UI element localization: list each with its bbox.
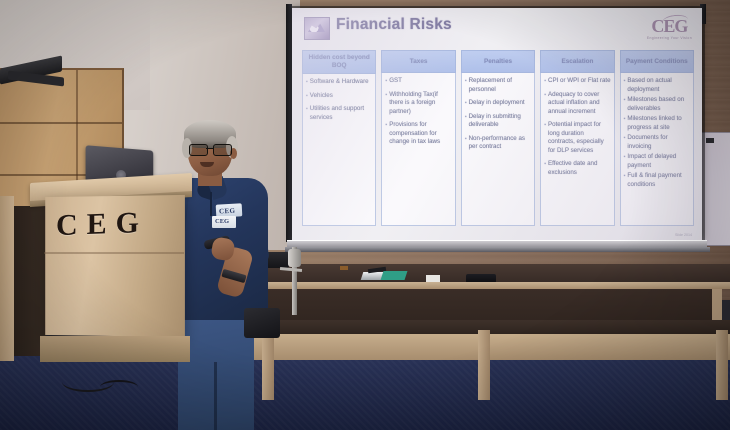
bullet-dot-icon: ▪ — [544, 77, 546, 86]
list-item: ▪Documents for invoicing — [624, 134, 690, 151]
bullet-text: Provisions for compensation for change i… — [389, 121, 452, 147]
bullet-dot-icon: ▪ — [306, 92, 308, 101]
bullet-dot-icon: ▪ — [624, 115, 626, 132]
bullet-text: Full & final payment conditions — [627, 172, 690, 189]
list-item: ▪Full & final payment conditions — [624, 172, 690, 189]
column-header: Payment Conditions — [620, 50, 694, 73]
glasses-lens-left — [189, 144, 208, 156]
bullet-dot-icon: ▪ — [465, 77, 467, 94]
column-header: Hidden cost beyond BOQ — [302, 50, 376, 74]
bullet-dot-icon: ▪ — [624, 77, 626, 94]
bullet-dot-icon: ▪ — [624, 172, 626, 189]
column-header: Penalties — [461, 50, 535, 73]
bullet-dot-icon: ▪ — [385, 121, 387, 147]
list-item: ▪Effective date and exclusions — [544, 160, 610, 177]
bullet-text: Utilities and support services — [310, 105, 373, 122]
podium-panel-seam — [44, 252, 184, 254]
presenter-shirt-placket — [210, 192, 212, 216]
desk-item-pencil — [340, 266, 348, 270]
list-item: ▪Delay in submitting deliverable — [465, 113, 531, 130]
bullet-text: Potential impact for long duration contr… — [548, 121, 611, 155]
column-body: ▪Based on actual deployment ▪Milestones … — [620, 73, 694, 226]
desk-leg — [716, 330, 728, 400]
bullet-text: Delay in deployment — [469, 99, 525, 108]
podium-left-panel — [0, 196, 14, 361]
risk-column-penalties: Penalties ▪Replacement of personnel ▪Del… — [461, 50, 535, 226]
slide-footer: Slide 2014 — [675, 233, 692, 237]
list-item: ▪Withholding Tax(if there is a foreign p… — [385, 91, 451, 117]
bullet-dot-icon: ▪ — [624, 153, 626, 170]
bullet-text: GST — [389, 77, 402, 86]
glasses-lens-right — [213, 144, 232, 156]
list-item: ▪Vehicles — [306, 92, 372, 101]
list-item: ▪Milestones linked to progress at site — [624, 115, 690, 132]
eyeglasses-icon — [188, 144, 232, 154]
podium-base — [40, 336, 190, 362]
risk-column-escalation: Escalation ▪CPI or WPI or Flat rate ▪Ade… — [540, 50, 614, 226]
bullet-text: Milestones based on deliverables — [627, 96, 690, 113]
desk-item-folder — [381, 271, 408, 280]
whiteboard-clip — [706, 138, 714, 143]
desk-leg — [478, 330, 490, 400]
list-item: ▪Milestones based on deliverables — [624, 96, 690, 113]
presenter-leg-seam — [214, 362, 217, 430]
bullet-dot-icon: ▪ — [544, 121, 546, 155]
bullet-dot-icon: ▪ — [465, 113, 467, 130]
bullet-dot-icon: ▪ — [385, 91, 387, 117]
column-header: Escalation — [540, 50, 614, 73]
presenter-name-badge — [212, 216, 236, 228]
bullet-dot-icon: ▪ — [306, 78, 308, 87]
bullet-dot-icon: ▪ — [624, 96, 626, 113]
bullet-text: Impact of delayed payment — [627, 153, 690, 170]
projection-screen: Financial Risks CEG Engineering Your Vis… — [292, 8, 702, 240]
column-body: ▪CPI or WPI or Flat rate ▪Adequacy to co… — [540, 73, 614, 226]
list-item: ▪Software & Hardware — [306, 78, 372, 87]
risk-column-hidden-cost: Hidden cost beyond BOQ ▪Software & Hardw… — [302, 50, 376, 226]
presentation-room-photo: Financial Risks CEG Engineering Your Vis… — [0, 0, 730, 430]
column-body: ▪GST ▪Withholding Tax(if there is a fore… — [381, 73, 455, 226]
list-item: ▪Potential impact for long duration cont… — [544, 121, 610, 155]
ceg-brand-logo: CEG Engineering Your Vision — [647, 16, 692, 40]
column-header: Taxes — [381, 50, 455, 73]
podium-ceg-lettering: CEG — [56, 205, 176, 243]
bullet-text: Withholding Tax(if there is a foreign pa… — [389, 91, 452, 117]
risk-column-payment-conditions: Payment Conditions ▪Based on actual depl… — [620, 50, 694, 226]
bullet-dot-icon: ▪ — [465, 135, 467, 152]
list-item: ▪GST — [385, 77, 451, 86]
glasses-bridge — [206, 148, 213, 149]
bullet-dot-icon: ▪ — [306, 105, 308, 122]
list-item: ▪Replacement of personnel — [465, 77, 531, 94]
floor-cable-loop — [100, 380, 138, 394]
slide-title: Financial Risks — [336, 16, 452, 34]
list-item: ▪CPI or WPI or Flat rate — [544, 77, 610, 86]
bullet-text: Based on actual deployment — [627, 77, 690, 94]
risk-columns-grid: Hidden cost beyond BOQ ▪Software & Hardw… — [302, 50, 694, 226]
column-body: ▪Replacement of personnel ▪Delay in depl… — [461, 73, 535, 226]
list-item: ▪Non-performance as per contract — [465, 135, 531, 152]
bullet-dot-icon: ▪ — [465, 99, 467, 108]
list-item: ▪Based on actual deployment — [624, 77, 690, 94]
screen-bottom-rail-shadow — [285, 247, 710, 252]
bullet-text: Software & Hardware — [310, 78, 369, 87]
bullet-dot-icon: ▪ — [544, 91, 546, 117]
list-item: ▪Adequacy to cover actual inflation and … — [544, 91, 610, 117]
presentation-slide: Financial Risks CEG Engineering Your Vis… — [292, 8, 702, 240]
bullet-text: CPI or WPI or Flat rate — [548, 77, 611, 86]
bullet-text: Replacement of personnel — [469, 77, 532, 94]
equipment-bag — [244, 308, 280, 338]
screen-tripod-knob — [288, 249, 301, 267]
bullet-text: Adequacy to cover actual inflation and a… — [548, 91, 611, 117]
ceg-wordmark: CEG — [647, 16, 692, 37]
slide-logo-icon — [304, 17, 330, 40]
bullet-dot-icon: ▪ — [624, 134, 626, 151]
list-item: ▪Utilities and support services — [306, 105, 372, 122]
bullet-text: Vehicles — [310, 92, 333, 101]
bullet-text: Documents for invoicing — [627, 134, 690, 151]
desk-edge-trim — [240, 282, 730, 289]
podium-side-shadow — [10, 206, 46, 356]
column-body: ▪Software & Hardware ▪Vehicles ▪Utilitie… — [302, 74, 376, 226]
bullet-text: Effective date and exclusions — [548, 160, 611, 177]
list-item: ▪Impact of delayed payment — [624, 153, 690, 170]
bullet-text: Non-performance as per contract — [469, 135, 532, 152]
list-item: ▪Delay in deployment — [465, 99, 531, 108]
bullet-dot-icon: ▪ — [385, 77, 387, 86]
bullet-text: Milestones linked to progress at site — [627, 115, 690, 132]
list-item: ▪Provisions for compensation for change … — [385, 121, 451, 147]
bullet-text: Delay in submitting deliverable — [469, 113, 532, 130]
risk-column-taxes: Taxes ▪GST ▪Withholding Tax(if there is … — [381, 50, 455, 226]
bullet-dot-icon: ▪ — [544, 160, 546, 177]
